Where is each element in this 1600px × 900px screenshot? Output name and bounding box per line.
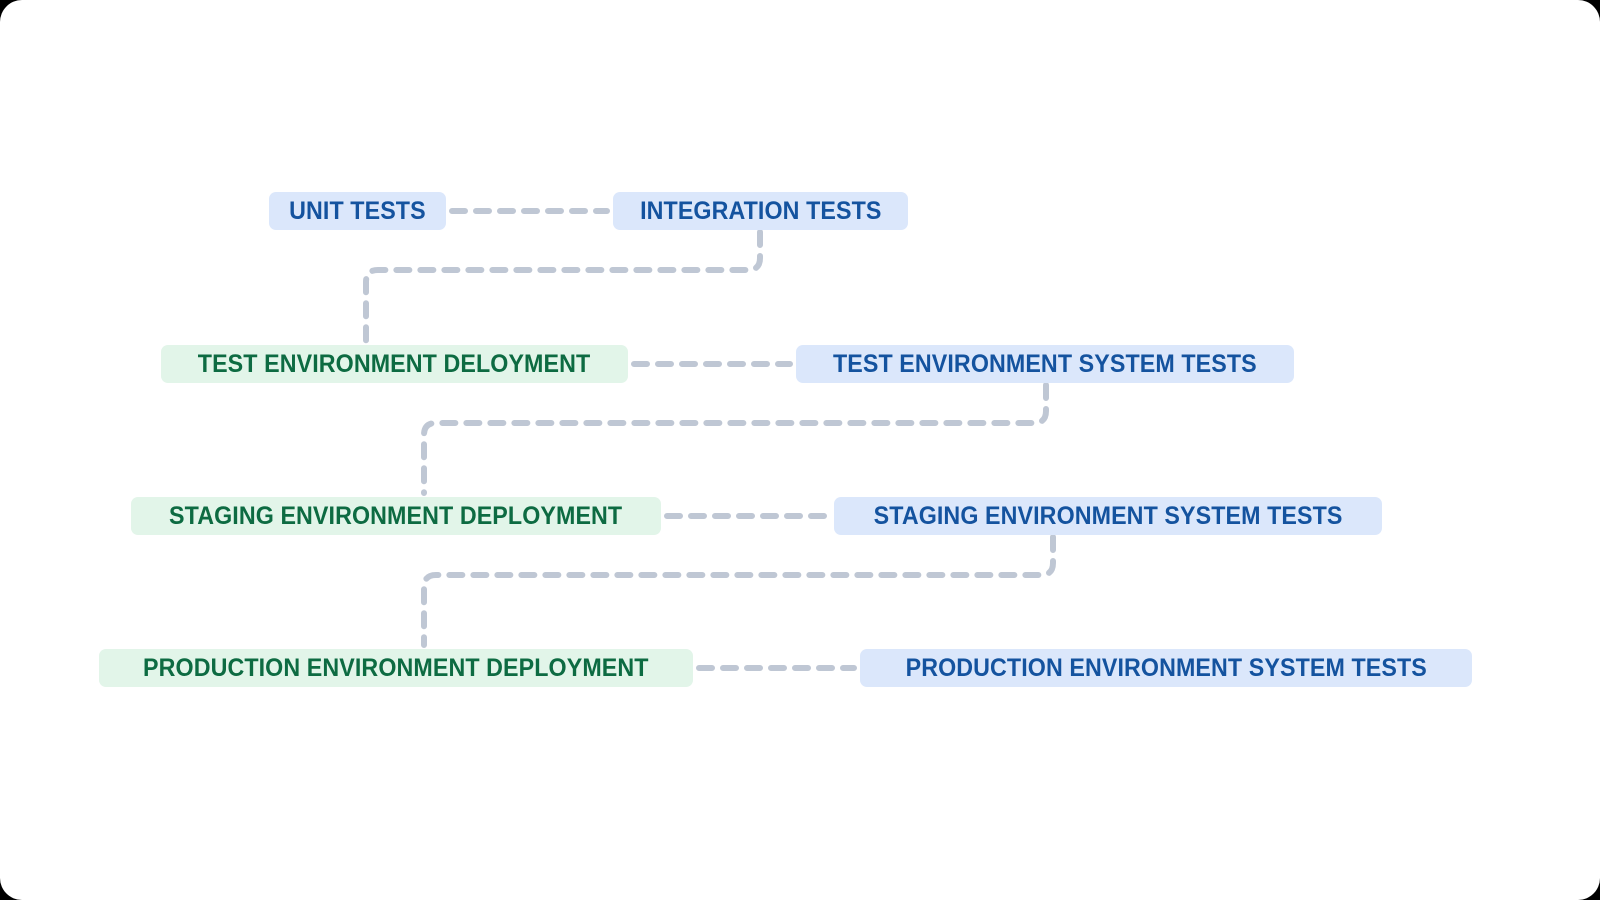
node-unit-tests[interactable]: UNIT TESTS [269,192,446,230]
node-label: PRODUCTION ENVIRONMENT SYSTEM TESTS [905,656,1426,681]
connector-edge-staging-system-to-prod-deploy [424,537,1053,645]
node-label: TEST ENVIRONMENT SYSTEM TESTS [833,352,1257,377]
diagram-canvas: UNIT TESTSINTEGRATION TESTSTEST ENVIRONM… [0,0,1600,900]
node-label: INTEGRATION TESTS [640,199,881,224]
connector-edge-test-system-to-staging-deploy [424,385,1046,493]
node-staging-environment-deployment[interactable]: STAGING ENVIRONMENT DEPLOYMENT [131,497,661,535]
node-staging-environment-system-tests[interactable]: STAGING ENVIRONMENT SYSTEM TESTS [834,497,1382,535]
connector-edge-integration-to-test-deploy [366,232,760,341]
node-integration-tests[interactable]: INTEGRATION TESTS [613,192,908,230]
node-test-environment-system-tests[interactable]: TEST ENVIRONMENT SYSTEM TESTS [796,345,1294,383]
node-production-environment-system-tests[interactable]: PRODUCTION ENVIRONMENT SYSTEM TESTS [860,649,1472,687]
node-test-environment-deloyment[interactable]: TEST ENVIRONMENT DELOYMENT [161,345,628,383]
node-label: STAGING ENVIRONMENT SYSTEM TESTS [874,504,1343,529]
connector-layer [0,0,1600,900]
node-label: UNIT TESTS [289,199,426,224]
node-label: TEST ENVIRONMENT DELOYMENT [198,352,591,377]
node-label: PRODUCTION ENVIRONMENT DEPLOYMENT [143,656,649,681]
node-label: STAGING ENVIRONMENT DEPLOYMENT [169,504,622,529]
node-production-environment-deployment[interactable]: PRODUCTION ENVIRONMENT DEPLOYMENT [99,649,693,687]
pipeline-diagram: UNIT TESTSINTEGRATION TESTSTEST ENVIRONM… [0,0,1600,900]
